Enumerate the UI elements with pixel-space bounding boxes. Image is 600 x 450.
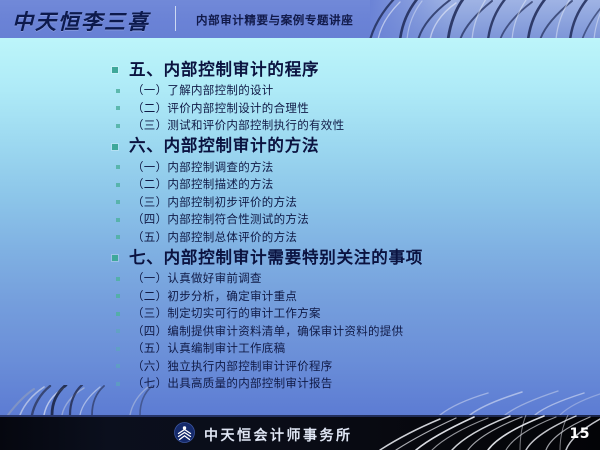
list-item: （二）内部控制描述的方法 — [112, 176, 532, 194]
square-bullet-icon — [116, 124, 120, 128]
square-bullet-icon — [116, 277, 120, 281]
list-item: （二）评价内部控制设计的合理性 — [112, 100, 532, 118]
list-item-label: （五）认真编制审计工作底稿 — [132, 343, 285, 355]
list-item-label: （一）认真做好审前调查 — [132, 273, 262, 285]
list-item: （四）内部控制符合性测试的方法 — [112, 211, 532, 229]
square-bullet-icon — [116, 200, 120, 204]
list-item: （三）内部控制初步评价的方法 — [112, 194, 532, 212]
outline-heading-label: 五、内部控制审计的程序 — [129, 62, 319, 79]
list-item-label: （三）内部控制初步评价的方法 — [132, 197, 297, 209]
list-item-label: （二）内部控制描述的方法 — [132, 179, 274, 191]
page-number: 15 — [570, 426, 590, 442]
slide-content: 五、内部控制审计的程序 （一）了解内部控制的设计 （二）评价内部控制设计的合理性… — [112, 58, 532, 393]
list-item-label: （四）内部控制符合性测试的方法 — [132, 214, 309, 226]
outline-block: 六、内部控制审计的方法 （一）内部控制调查的方法 （二）内部控制描述的方法 （三… — [112, 135, 532, 247]
slide-header: 中天恒李三喜 内部审计精要与案例专题讲座 — [0, 0, 600, 38]
footer-company-name: 中天恒会计师事务所 — [204, 425, 353, 445]
list-item-label: （三）制定切实可行的审计工作方案 — [132, 308, 321, 320]
list-item: （一）了解内部控制的设计 — [112, 82, 532, 100]
outline-heading: 六、内部控制审计的方法 — [112, 135, 532, 159]
grass-decoration-icon — [360, 0, 600, 38]
grass-decoration-icon — [370, 415, 600, 450]
square-bullet-icon — [112, 255, 118, 261]
square-bullet-icon — [116, 294, 120, 298]
square-bullet-icon — [116, 106, 120, 110]
grass-decoration-icon — [410, 387, 600, 415]
list-item-label: （四）编制提供审计资料清单，确保审计资料的提供 — [132, 326, 403, 338]
list-item-label: （六）独立执行内部控制审计评价程序 — [132, 361, 333, 373]
mountain-chevron-logo-icon — [174, 422, 195, 443]
presentation-slide: 中天恒李三喜 内部审计精要与案例专题讲座 五、内部控制审计的程序 （一）了解内部… — [0, 0, 600, 450]
square-bullet-icon — [112, 67, 118, 73]
square-bullet-icon — [116, 329, 120, 333]
header-divider — [175, 6, 176, 31]
list-item: （六）独立执行内部控制审计评价程序 — [112, 358, 532, 376]
outline-block: 七、内部控制审计需要特别关注的事项 （一）认真做好审前调查 （二）初步分析，确定… — [112, 246, 532, 393]
slide-footer: 中天恒会计师事务所 15 — [0, 415, 600, 450]
square-bullet-icon — [116, 364, 120, 368]
outline-heading: 五、内部控制审计的程序 — [112, 58, 532, 82]
list-item: （五）认真编制审计工作底稿 — [112, 340, 532, 358]
square-bullet-icon — [116, 347, 120, 351]
square-bullet-icon — [116, 183, 120, 187]
outline-block: 五、内部控制审计的程序 （一）了解内部控制的设计 （二）评价内部控制设计的合理性… — [112, 58, 532, 135]
square-bullet-icon — [112, 144, 118, 150]
list-item-label: （一）内部控制调查的方法 — [132, 162, 274, 174]
outline-heading-label: 六、内部控制审计的方法 — [129, 138, 319, 155]
list-item: （三）测试和评价内部控制执行的有效性 — [112, 117, 532, 135]
square-bullet-icon — [116, 218, 120, 222]
list-item-label: （五）内部控制总体评价的方法 — [132, 232, 297, 244]
brand-logo-text: 中天恒李三喜 — [12, 6, 150, 36]
grass-decoration-icon — [0, 385, 200, 415]
list-item-label: （二）初步分析，确定审计重点 — [132, 291, 297, 303]
list-item-label: （一）了解内部控制的设计 — [132, 85, 274, 97]
square-bullet-icon — [116, 89, 120, 93]
header-subtitle: 内部审计精要与案例专题讲座 — [196, 12, 353, 28]
list-item: （四）编制提供审计资料清单，确保审计资料的提供 — [112, 323, 532, 341]
square-bullet-icon — [116, 165, 120, 169]
outline-heading: 七、内部控制审计需要特别关注的事项 — [112, 246, 532, 270]
list-item: （一）内部控制调查的方法 — [112, 159, 532, 177]
list-item: （二）初步分析，确定审计重点 — [112, 288, 532, 306]
list-item-label: （二）评价内部控制设计的合理性 — [132, 103, 309, 115]
list-item: （一）认真做好审前调查 — [112, 270, 532, 288]
list-item: （五）内部控制总体评价的方法 — [112, 229, 532, 247]
square-bullet-icon — [116, 312, 120, 316]
outline-heading-label: 七、内部控制审计需要特别关注的事项 — [129, 250, 423, 267]
list-item-label: （三）测试和评价内部控制执行的有效性 — [132, 120, 344, 132]
list-item: （三）制定切实可行的审计工作方案 — [112, 305, 532, 323]
square-bullet-icon — [116, 235, 120, 239]
